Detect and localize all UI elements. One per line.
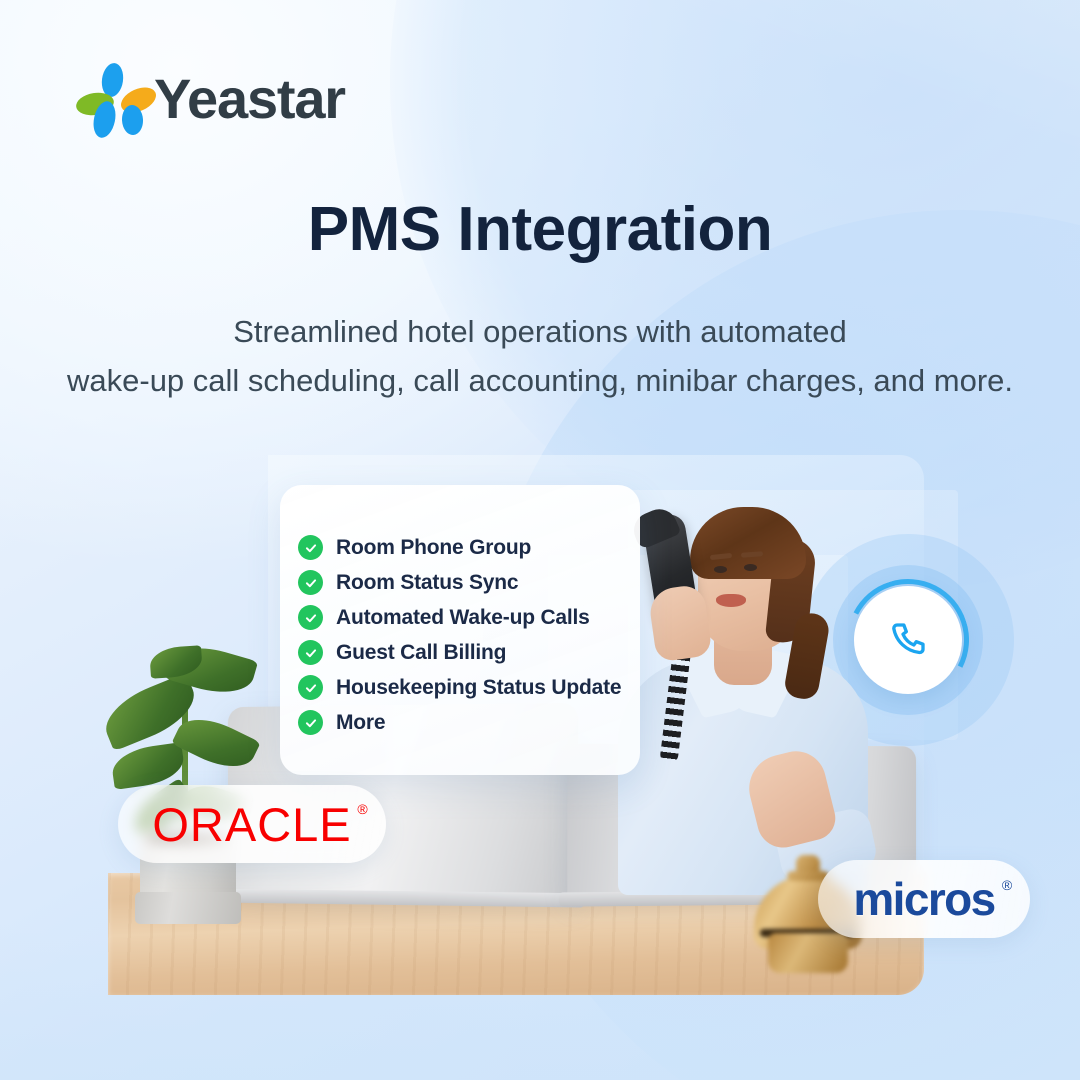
check-circle-icon bbox=[298, 535, 323, 560]
check-circle-icon bbox=[298, 570, 323, 595]
list-item: Room Phone Group bbox=[298, 535, 630, 560]
person-eye-right bbox=[744, 564, 757, 571]
page-subtitle: Streamlined hotel operations with automa… bbox=[0, 308, 1080, 406]
brand-wordmark: Yeastar bbox=[154, 71, 345, 127]
partner-badge-oracle: ORACLE® bbox=[118, 785, 386, 863]
oracle-logo-text: ORACLE bbox=[152, 798, 351, 851]
micros-logo: micros® bbox=[853, 876, 994, 922]
page-title: PMS Integration bbox=[0, 197, 1080, 262]
brand-logo: Yeastar bbox=[78, 63, 345, 135]
check-circle-icon bbox=[298, 640, 323, 665]
check-circle-icon bbox=[298, 675, 323, 700]
potted-plant bbox=[106, 593, 296, 923]
subtitle-line-2: wake-up call scheduling, call accounting… bbox=[0, 357, 1080, 406]
list-item: Housekeeping Status Update bbox=[298, 675, 630, 700]
feature-label: More bbox=[336, 711, 385, 735]
hero-scene: Room Phone Group Room Status Sync Automa… bbox=[108, 455, 924, 995]
yeastar-pinwheel-logo-icon bbox=[78, 63, 140, 135]
subtitle-line-1: Streamlined hotel operations with automa… bbox=[0, 308, 1080, 357]
feature-label: Guest Call Billing bbox=[336, 641, 506, 665]
check-circle-icon bbox=[298, 710, 323, 735]
partner-badge-micros: micros® bbox=[818, 860, 1030, 938]
oracle-trademark-symbol: ® bbox=[357, 802, 368, 816]
person-mouth bbox=[716, 594, 746, 607]
feature-label: Automated Wake-up Calls bbox=[336, 606, 590, 630]
micros-trademark-symbol: ® bbox=[1002, 878, 1011, 892]
micros-logo-text: micros bbox=[853, 873, 994, 925]
bell-knob bbox=[796, 855, 820, 881]
person-eye-left bbox=[714, 566, 727, 573]
feature-list: Room Phone Group Room Status Sync Automa… bbox=[298, 535, 630, 735]
feature-list-card: Room Phone Group Room Status Sync Automa… bbox=[280, 485, 640, 775]
feature-label: Room Status Sync bbox=[336, 571, 518, 595]
bell-base bbox=[768, 933, 848, 973]
check-circle-icon bbox=[298, 605, 323, 630]
feature-label: Housekeeping Status Update bbox=[336, 676, 621, 700]
list-item: Automated Wake-up Calls bbox=[298, 605, 630, 630]
list-item: More bbox=[298, 710, 630, 735]
poster-canvas: Yeastar PMS Integration Streamlined hote… bbox=[0, 0, 1080, 1080]
oracle-logo: ORACLE® bbox=[152, 801, 351, 848]
feature-label: Room Phone Group bbox=[336, 536, 531, 560]
phone-handset-icon bbox=[888, 620, 928, 660]
list-item: Guest Call Billing bbox=[298, 640, 630, 665]
list-item: Room Status Sync bbox=[298, 570, 630, 595]
